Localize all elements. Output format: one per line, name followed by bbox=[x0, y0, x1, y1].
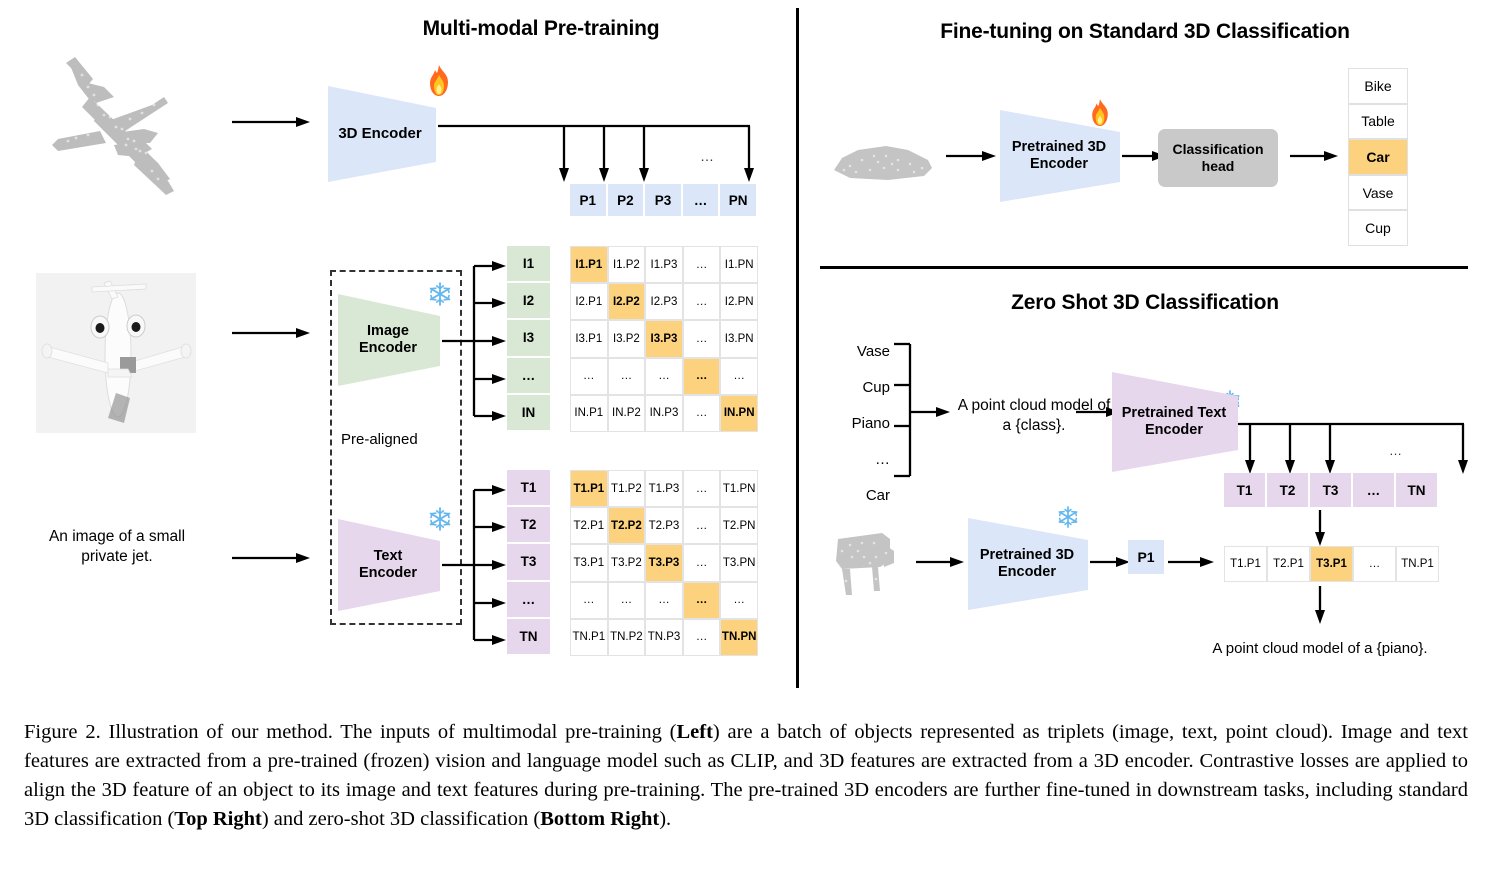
image-matrix-cell: … bbox=[683, 358, 721, 395]
bottom-right-panel-title: Zero Shot 3D Classification bbox=[818, 291, 1472, 315]
text-matrix-cell: … bbox=[683, 507, 721, 544]
prompt-line2: a {class}. bbox=[1003, 417, 1066, 434]
image-similarity-matrix: I1.P1I1.P2I1.P3…I1.PNI2.P1I2.P2I2.P3…I2.… bbox=[570, 246, 758, 432]
encoder3d-label-line1: Pretrained 3D bbox=[980, 547, 1074, 563]
encoder-text-label-line1: Text bbox=[374, 548, 403, 564]
image-matrix-cell: I3.PN bbox=[720, 320, 758, 357]
class-option-vase: Vase bbox=[1348, 175, 1408, 211]
image-token-column: I1I2I3…IN bbox=[507, 246, 550, 432]
text-similarity-matrix: T1.P1T1.P2T1.P3…T1.PNT2.P1T2.P2T2.P3…T2.… bbox=[570, 470, 758, 656]
text-matrix-cell: T2.P3 bbox=[645, 507, 683, 544]
text-matrix-cell: T1.P1 bbox=[570, 470, 608, 507]
zeroshot-class-5: Car bbox=[826, 478, 890, 514]
image-matrix-cell: IN.P2 bbox=[608, 395, 646, 432]
arrow-tokens-to-simrow bbox=[1314, 510, 1326, 548]
image-matrix-row: I3.P1I3.P2I3.P3…I3.PN bbox=[570, 320, 758, 357]
arrow-image-to-encoder bbox=[232, 327, 312, 339]
text-token-1: T1 bbox=[507, 470, 550, 507]
text-matrix-cell: TN.P3 bbox=[645, 619, 683, 656]
class-list-box: BikeTableCarVaseCup bbox=[1348, 68, 1408, 246]
p-token-2: P2 bbox=[608, 184, 646, 216]
text-matrix-cell: … bbox=[720, 582, 758, 619]
arrow-piano-to-encoder bbox=[916, 556, 966, 568]
private-jet-image bbox=[36, 273, 196, 433]
piano-point-cloud bbox=[828, 523, 910, 605]
text-encoder-label-line2: Encoder bbox=[1145, 422, 1203, 438]
text-matrix-cell: T3.P2 bbox=[608, 544, 646, 581]
image-matrix-cell: I1.P2 bbox=[608, 246, 646, 283]
zeroshot-class-1: Vase bbox=[826, 334, 890, 370]
image-matrix-cell: … bbox=[645, 358, 683, 395]
caption-bold-topright: Top Right bbox=[174, 808, 262, 830]
image-matrix-cell: … bbox=[720, 358, 758, 395]
zeroshot-t-token-5: TN bbox=[1396, 473, 1439, 507]
text-matrix-row: T3.P1T3.P2T3.P3…T3.PN bbox=[570, 544, 758, 581]
p-token-1: P1 bbox=[570, 184, 608, 216]
text-matrix-cell: … bbox=[683, 544, 721, 581]
arrow-head-to-classes bbox=[1290, 150, 1340, 162]
class-option-bike: Bike bbox=[1348, 68, 1408, 104]
p-token-row: P1P2P3…PN bbox=[570, 184, 758, 216]
image-token-4: … bbox=[507, 358, 550, 395]
airplane-point-cloud bbox=[18, 45, 218, 215]
text-encoder-label-line1: Pretrained Text bbox=[1122, 405, 1227, 421]
encoder-image: Image Encoder bbox=[338, 294, 442, 386]
zeroshot-bus-ellipsis: … bbox=[1389, 443, 1402, 458]
text-matrix-row: TN.P1TN.P2TN.P3…TN.PN bbox=[570, 619, 758, 656]
encoder-pretrained-text: Pretrained Text Encoder bbox=[1112, 372, 1240, 472]
encoder-image-label-line1: Image bbox=[367, 323, 409, 339]
image-matrix-cell: … bbox=[608, 358, 646, 395]
image-matrix-cell: IN.P3 bbox=[645, 395, 683, 432]
head-label-line2: head bbox=[1202, 158, 1235, 174]
car-point-cloud bbox=[828, 128, 938, 188]
text-matrix-row: …………… bbox=[570, 582, 758, 619]
arrow-encoder-to-p1 bbox=[1090, 556, 1132, 568]
zeroshot-sim-cell-3: T3.P1 bbox=[1310, 546, 1353, 582]
encoder-text-label: Text Encoder bbox=[359, 548, 417, 581]
zeroshot-sim-cell-4: … bbox=[1353, 546, 1396, 582]
figure-canvas: Multi-modal Pre-training bbox=[0, 0, 1490, 700]
image-matrix-cell: IN.PN bbox=[720, 395, 758, 432]
zeroshot-t-token-1: T1 bbox=[1224, 473, 1267, 507]
image-matrix-cell: I2.PN bbox=[720, 283, 758, 320]
encoder-label-line1: Pretrained 3D bbox=[1012, 139, 1106, 155]
text-matrix-cell: T3.P3 bbox=[645, 544, 683, 581]
text-matrix-cell: T2.P1 bbox=[570, 507, 608, 544]
panel-divider-vertical bbox=[796, 8, 799, 688]
encoder-label-line2: Encoder bbox=[1030, 156, 1088, 172]
encoder-text: Text Encoder bbox=[338, 519, 442, 611]
image-matrix-cell: I1.P1 bbox=[570, 246, 608, 283]
text-token-column: T1T2T3…TN bbox=[507, 470, 550, 656]
image-matrix-cell: IN.P1 bbox=[570, 395, 608, 432]
text-matrix-cell: … bbox=[683, 582, 721, 619]
text-matrix-cell: T2.P2 bbox=[608, 507, 646, 544]
image-matrix-cell: I1.PN bbox=[720, 246, 758, 283]
figure-caption: Figure 2. Illustration of our method. Th… bbox=[24, 718, 1468, 834]
head-label-line1: Classification bbox=[1172, 141, 1263, 157]
zeroshot-class-4: … bbox=[826, 442, 890, 478]
encoder-pretrained-3d-top-label: Pretrained 3D Encoder bbox=[1012, 139, 1106, 172]
p1-token: P1 bbox=[1128, 540, 1164, 574]
caption-bold-bottomright: Bottom Right bbox=[540, 808, 659, 830]
text-matrix-cell: TN.P2 bbox=[608, 619, 646, 656]
text-matrix-cell: T1.P3 bbox=[645, 470, 683, 507]
arrow-classes-to-prompt bbox=[910, 406, 952, 418]
encoder3d-label-line2: Encoder bbox=[998, 564, 1056, 580]
text-matrix-cell: T1.PN bbox=[720, 470, 758, 507]
zeroshot-t-token-row: T1T2T3…TN bbox=[1224, 473, 1439, 507]
image-token-3: I3 bbox=[507, 320, 550, 357]
image-matrix-row: IN.P1IN.P2IN.P3…IN.PN bbox=[570, 395, 758, 432]
image-matrix-cell: … bbox=[570, 358, 608, 395]
left-panel-title: Multi-modal Pre-training bbox=[286, 17, 796, 41]
image-matrix-cell: I2.P2 bbox=[608, 283, 646, 320]
text-matrix-row: T1.P1T1.P2T1.P3…T1.PN bbox=[570, 470, 758, 507]
zeroshot-class-2: Cup bbox=[826, 370, 890, 406]
p-token-5: PN bbox=[720, 184, 758, 216]
text-matrix-cell: T3.PN bbox=[720, 544, 758, 581]
zeroshot-sim-cell-5: TN.P1 bbox=[1396, 546, 1439, 582]
caption-seg4: ). bbox=[659, 808, 671, 830]
encoder-3d: 3D Encoder bbox=[328, 86, 438, 182]
caption-bold-left: Left bbox=[676, 721, 712, 743]
encoder-3d-label: 3D Encoder bbox=[338, 125, 421, 142]
zeroshot-class-3: Piano bbox=[826, 406, 890, 442]
image-matrix-cell: I2.P1 bbox=[570, 283, 608, 320]
class-option-car: Car bbox=[1348, 139, 1408, 175]
image-matrix-cell: … bbox=[683, 320, 721, 357]
image-token-5: IN bbox=[507, 395, 550, 432]
arrow-car-to-encoder bbox=[946, 150, 998, 162]
image-token-2: I2 bbox=[507, 283, 550, 320]
encoder-pretrained-3d-bottom: Pretrained 3D Encoder bbox=[968, 518, 1090, 610]
image-matrix-cell: … bbox=[683, 246, 721, 283]
zeroshot-t-token-4: … bbox=[1353, 473, 1396, 507]
image-matrix-cell: I2.P3 bbox=[645, 283, 683, 320]
image-matrix-cell: … bbox=[683, 395, 721, 432]
top-right-panel-title: Fine-tuning on Standard 3D Classificatio… bbox=[818, 20, 1472, 44]
arrow-simrow-to-result bbox=[1314, 586, 1326, 626]
encoder-image-label: Image Encoder bbox=[359, 323, 417, 356]
panel-divider-horizontal bbox=[820, 266, 1468, 269]
text-token-4: … bbox=[507, 582, 550, 619]
zeroshot-result-text: A point cloud model of a {piano}. bbox=[1175, 640, 1465, 657]
text-matrix-cell: T3.P1 bbox=[570, 544, 608, 581]
text-matrix-cell: … bbox=[683, 470, 721, 507]
classification-head: Classification head bbox=[1158, 129, 1278, 187]
image-matrix-cell: I3.P2 bbox=[608, 320, 646, 357]
text-matrix-cell: … bbox=[683, 619, 721, 656]
zeroshot-sim-cell-1: T1.P1 bbox=[1224, 546, 1267, 582]
classification-head-label: Classification head bbox=[1172, 141, 1263, 175]
arrow-p1-to-simrow bbox=[1168, 556, 1216, 568]
zeroshot-t-token-2: T2 bbox=[1267, 473, 1310, 507]
p-token-3: P3 bbox=[645, 184, 683, 216]
image-matrix-cell: … bbox=[683, 283, 721, 320]
caption-seg3: ) and zero-shot 3D classification ( bbox=[262, 808, 540, 830]
image-matrix-row: I2.P1I2.P2I2.P3…I2.PN bbox=[570, 283, 758, 320]
zeroshot-similarity-row: T1.P1T2.P1T3.P1…TN.P1 bbox=[1224, 546, 1439, 582]
zeroshot-sim-cell-2: T2.P1 bbox=[1267, 546, 1310, 582]
text-matrix-cell: T1.P2 bbox=[608, 470, 646, 507]
text-matrix-cell: … bbox=[645, 582, 683, 619]
image-matrix-row: I1.P1I1.P2I1.P3…I1.PN bbox=[570, 246, 758, 283]
text-token-3: T3 bbox=[507, 544, 550, 581]
image-matrix-cell: I1.P3 bbox=[645, 246, 683, 283]
arrow-text-to-encoder bbox=[232, 552, 312, 564]
encoder-pretrained-3d-bottom-label: Pretrained 3D Encoder bbox=[980, 547, 1074, 580]
fanout-image-tokens bbox=[442, 246, 510, 436]
text-input-label: An image of a small private jet. bbox=[26, 527, 208, 567]
p-token-4: … bbox=[683, 184, 721, 216]
text-matrix-cell: TN.P1 bbox=[570, 619, 608, 656]
class-option-table: Table bbox=[1348, 104, 1408, 140]
class-option-cup: Cup bbox=[1348, 210, 1408, 246]
encoder-pretrained-3d-top: Pretrained 3D Encoder bbox=[1000, 110, 1122, 202]
encoder-text-label-line2: Encoder bbox=[359, 565, 417, 581]
encoder-image-label-line2: Encoder bbox=[359, 340, 417, 356]
image-matrix-cell: I3.P3 bbox=[645, 320, 683, 357]
text-matrix-cell: … bbox=[608, 582, 646, 619]
encoder-pretrained-text-label: Pretrained Text Encoder bbox=[1122, 405, 1227, 438]
image-matrix-cell: I3.P1 bbox=[570, 320, 608, 357]
text-matrix-cell: T2.PN bbox=[720, 507, 758, 544]
zeroshot-class-list: VaseCupPiano…Car bbox=[826, 334, 890, 514]
arrow-pointcloud-to-3d-encoder bbox=[232, 116, 312, 128]
image-matrix-row: …………… bbox=[570, 358, 758, 395]
bus-line-text-encoder bbox=[1238, 418, 1472, 478]
bus-ellipsis-label: … bbox=[700, 148, 714, 164]
fanout-text-tokens bbox=[442, 470, 510, 660]
text-token-2: T2 bbox=[507, 507, 550, 544]
text-matrix-row: T2.P1T2.P2T2.P3…T2.PN bbox=[570, 507, 758, 544]
zeroshot-t-token-3: T3 bbox=[1310, 473, 1353, 507]
pre-aligned-label: Pre-aligned bbox=[341, 431, 418, 448]
text-matrix-cell: … bbox=[570, 582, 608, 619]
text-token-5: TN bbox=[507, 619, 550, 656]
text-matrix-cell: TN.PN bbox=[720, 619, 758, 656]
caption-seg1: Figure 2. Illustration of our method. Th… bbox=[24, 721, 676, 743]
image-token-1: I1 bbox=[507, 246, 550, 283]
